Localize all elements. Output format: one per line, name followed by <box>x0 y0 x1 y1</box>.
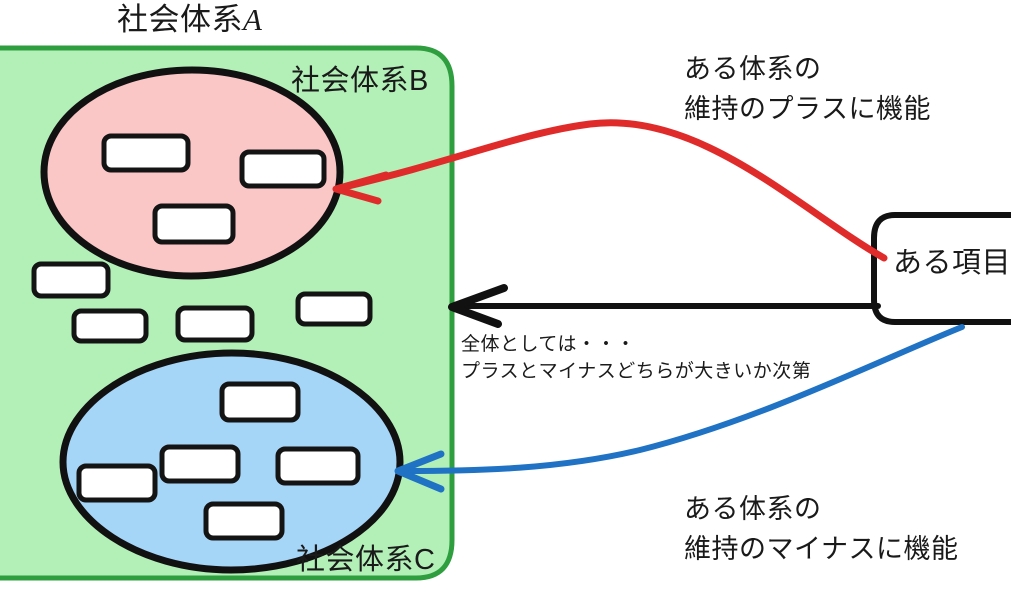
node-c-5 <box>206 504 282 538</box>
node-a-1 <box>34 264 108 296</box>
label-item-box: ある項目 <box>893 246 1011 280</box>
annotation-positive: ある体系の 維持のプラスに機能 <box>684 49 931 129</box>
node-c-3 <box>278 449 358 483</box>
page-title-system-a: 社会体系A <box>117 2 262 38</box>
label-system-c: 社会体系C <box>296 543 435 577</box>
node-b-1 <box>104 136 188 170</box>
node-c-1 <box>222 384 298 420</box>
node-b-3 <box>155 206 233 242</box>
node-c-4 <box>79 466 155 500</box>
label-system-b: 社会体系B <box>291 64 429 98</box>
node-a-4 <box>298 294 370 324</box>
diagram-canvas: 社会体系A 社会体系B 社会体系C ある項目 ある体系の 維持のプラスに機能 あ… <box>0 0 1011 594</box>
node-a-3 <box>178 308 252 340</box>
node-c-2 <box>162 447 238 481</box>
node-b-2 <box>242 152 324 186</box>
page-title-system-a-mark: A <box>243 2 262 37</box>
node-a-2 <box>74 311 146 341</box>
annotation-net: 全体としては・・・ プラスとマイナスどちらが大きいか次第 <box>461 331 811 385</box>
page-title-system-a-text: 社会体系 <box>117 2 243 37</box>
annotation-negative: ある体系の 維持のマイナスに機能 <box>684 489 958 569</box>
arrow-net <box>452 288 878 324</box>
